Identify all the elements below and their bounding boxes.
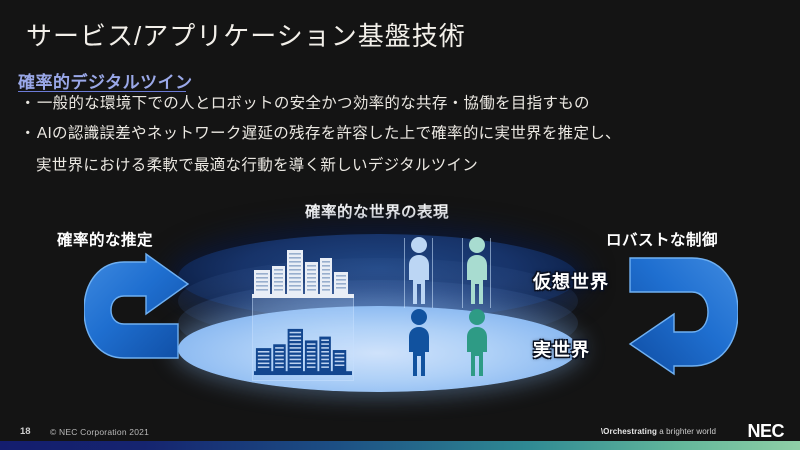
bottom-accent-bar xyxy=(0,441,800,450)
city-skyline-blue-icon xyxy=(254,323,352,379)
slide-canvas: サービス/アプリケーション基盤技術 確率的デジタルツイン ・一般的な環境下での人… xyxy=(0,0,800,450)
bullet-marker: ・ xyxy=(20,95,36,112)
curved-arrow-down-left-icon xyxy=(622,256,738,376)
copyright-notice: © NEC Corporation 2021 xyxy=(50,427,149,437)
diagram-label-control: ロバストな制御 xyxy=(606,228,718,250)
cylinder-bottom-disc xyxy=(178,306,578,392)
section-subtitle: 確率的デジタルツイン xyxy=(18,68,193,93)
diagram-label-world-representation: 確率的な世界の表現 xyxy=(305,200,449,222)
nec-logo: NEC xyxy=(747,421,784,442)
curved-arrow-up-right-icon xyxy=(84,252,196,372)
page-number: 18 xyxy=(20,426,31,437)
bullet-item-1: ・一般的な環境下での人とロボットの安全かつ効率的な共存・協働を目指すもの xyxy=(20,93,590,115)
bullet-text: AIの認識誤差やネットワーク遅延の残存を許容した上で確率的に実世界を推定し、 xyxy=(37,125,621,142)
tagline-strong: Orchestrating xyxy=(603,427,657,436)
diagram-label-real-world: 実世界 xyxy=(533,336,590,362)
diagram-label-estimation: 確率的な推定 xyxy=(57,228,153,250)
person-light-blue-icon xyxy=(403,236,435,306)
person-light-green-icon xyxy=(461,236,493,306)
bullet-marker: ・ xyxy=(20,125,36,142)
bullet-item-2: ・AIの認識誤差やネットワーク遅延の残存を許容した上で確率的に実世界を推定し、 xyxy=(20,123,621,145)
diagram-label-virtual-world: 仮想世界 xyxy=(533,268,609,294)
probability-cylinder-icon xyxy=(178,234,578,404)
bullet-text: 一般的な環境下での人とロボットの安全かつ効率的な共存・協働を目指すもの xyxy=(37,95,590,112)
subtitle-underline xyxy=(18,91,186,92)
city-skyline-white-icon xyxy=(252,248,354,298)
tagline-rest: a brighter world xyxy=(657,427,716,436)
person-teal-icon xyxy=(461,308,493,378)
page-title: サービス/アプリケーション基盤技術 xyxy=(26,16,466,53)
bullet-item-2-continuation: 実世界における柔軟で最適な行動を導く新しいデジタルツイン xyxy=(36,153,478,175)
brand-tagline: \Orchestrating a brighter world xyxy=(601,427,716,436)
person-dark-blue-icon xyxy=(403,308,435,378)
